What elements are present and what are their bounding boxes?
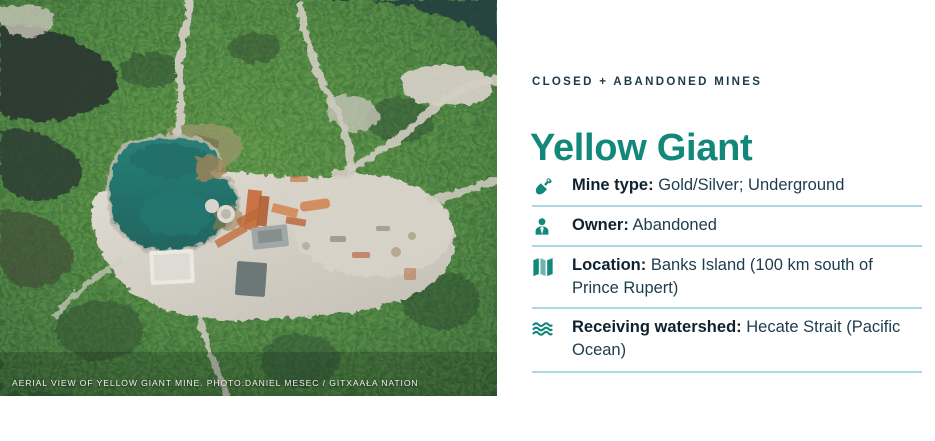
mine-profile-card: AERIAL VIEW OF YELLOW GIANT MINE. PHOTO:… xyxy=(0,0,935,441)
detail-row-text: Location: Banks Island (100 km south of … xyxy=(572,254,920,300)
detail-list-bottom-divider xyxy=(532,371,922,373)
shovel-icon xyxy=(532,174,572,198)
category-eyebrow: CLOSED + ABANDONED MINES xyxy=(532,76,762,88)
page-title: Yellow Giant xyxy=(530,128,752,170)
detail-label: Location: xyxy=(572,256,646,274)
detail-row-text: Mine type: Gold/Silver; Underground xyxy=(572,174,920,197)
aerial-photo-panel: AERIAL VIEW OF YELLOW GIANT MINE. PHOTO:… xyxy=(0,0,497,396)
detail-row-owner: Owner: Abandoned xyxy=(532,205,922,245)
aerial-photo-image xyxy=(0,0,497,396)
mine-detail-list: Mine type: Gold/Silver; Underground xyxy=(532,172,922,373)
detail-row-watershed: Receiving watershed: Hecate Strait (Paci… xyxy=(532,307,922,369)
detail-label: Owner: xyxy=(572,216,629,234)
detail-row-mine-type: Mine type: Gold/Silver; Underground xyxy=(532,172,922,205)
photo-caption: AERIAL VIEW OF YELLOW GIANT MINE. PHOTO:… xyxy=(0,378,497,388)
detail-label: Mine type: xyxy=(572,176,654,194)
detail-row-location: Location: Banks Island (100 km south of … xyxy=(532,245,922,307)
detail-value: Gold/Silver; Underground xyxy=(658,176,844,194)
detail-label: Receiving watershed: xyxy=(572,318,742,336)
map-icon xyxy=(532,254,572,278)
detail-value: Abandoned xyxy=(633,216,717,234)
waves-icon xyxy=(532,316,572,340)
detail-row-text: Owner: Abandoned xyxy=(572,214,920,237)
person-icon xyxy=(532,214,572,238)
mine-info-panel: CLOSED + ABANDONED MINES Yellow Giant Mi… xyxy=(532,0,935,441)
detail-row-text: Receiving watershed: Hecate Strait (Paci… xyxy=(572,316,920,362)
